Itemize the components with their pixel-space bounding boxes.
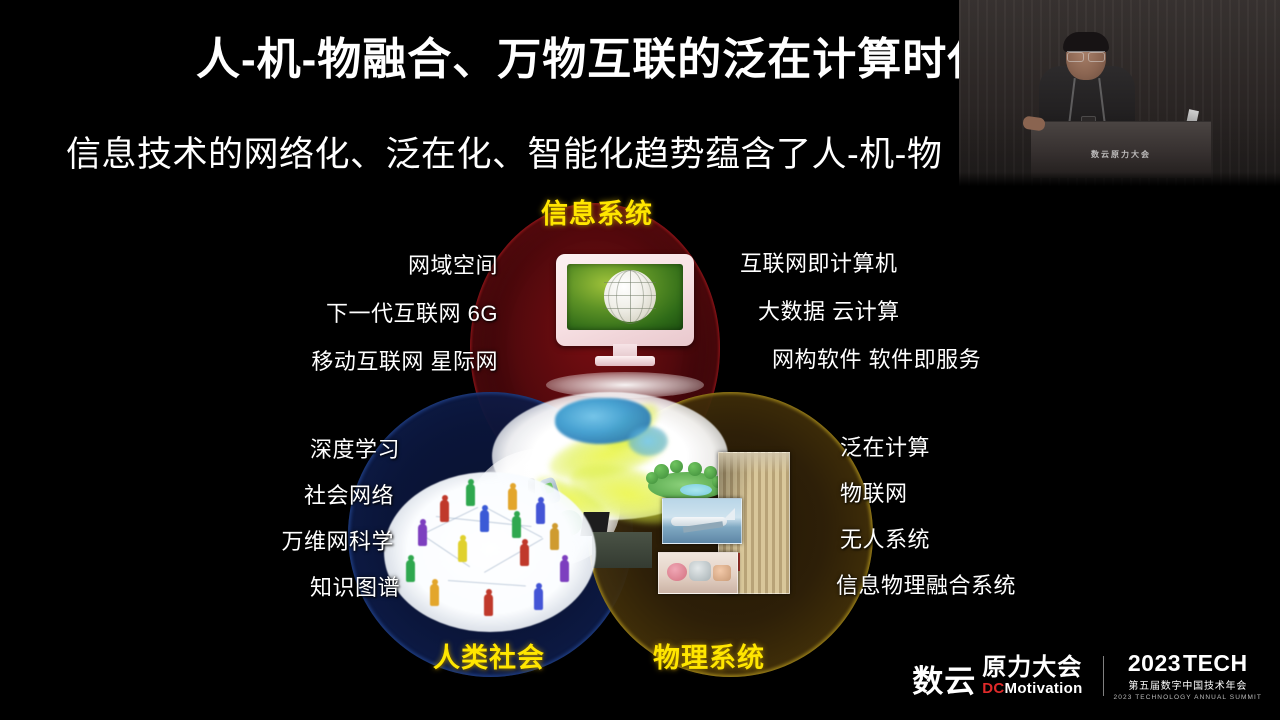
center-platform-icon xyxy=(592,532,652,568)
pip-bottom-fade xyxy=(959,172,1280,186)
keyword-physical-4: 信息物理融合系统 xyxy=(836,568,1016,600)
logo-brand-en-dc: DC xyxy=(982,680,1004,697)
person-figure xyxy=(550,528,559,550)
person-figure xyxy=(512,516,521,538)
speaker-hair xyxy=(1063,32,1109,52)
person-figure xyxy=(418,524,427,546)
green-island-icon xyxy=(644,458,728,502)
person-figure xyxy=(430,584,439,606)
logo-summit-en: 2023 TECHNOLOGY ANNUAL SUMMIT xyxy=(1114,694,1262,701)
logo-summit-cn: 第五届数字中国技术年会 xyxy=(1128,677,1247,692)
person-figure xyxy=(560,560,569,582)
venn-title-information-system: 信息系统 xyxy=(541,192,653,231)
person-figure xyxy=(520,544,529,566)
person-figure xyxy=(484,594,493,616)
keyword-info-left-1: 网域空间 xyxy=(268,248,498,280)
keyword-info-right-2: 大数据 云计算 xyxy=(758,294,900,326)
keyword-info-right-3: 网构软件 软件即服务 xyxy=(772,342,981,374)
people-network-icon xyxy=(384,472,596,632)
keyword-info-left-2: 下一代互联网 6G xyxy=(268,296,498,328)
keyword-physical-3: 无人系统 xyxy=(840,522,930,554)
monitor-globe-icon xyxy=(556,254,694,366)
venn-title-physical-system: 物理系统 xyxy=(653,636,765,675)
person-figure xyxy=(440,500,449,522)
logo-tech: TECH xyxy=(1183,652,1248,675)
keyword-info-left-3: 移动互联网 星际网 xyxy=(238,344,498,376)
person-figure xyxy=(534,588,543,610)
venn-title-human-society: 人类社会 xyxy=(433,636,545,675)
keyword-physical-1: 泛在计算 xyxy=(840,430,930,462)
glasses-icon xyxy=(1067,51,1105,61)
podium-label: 数云原力大会 xyxy=(1031,149,1211,160)
person-figure xyxy=(536,502,545,524)
person-figure xyxy=(466,484,475,506)
aircraft-photo-icon xyxy=(662,498,742,544)
logo-brand-cn-1: 数云 xyxy=(912,666,976,697)
logo-divider xyxy=(1103,656,1104,696)
logo-brand-en-motivation: Motivation xyxy=(1005,680,1083,697)
keyword-physical-2: 物联网 xyxy=(840,476,908,508)
person-figure xyxy=(480,510,489,532)
keyword-human-3: 万维网科学 xyxy=(158,524,394,556)
logo-year: 2023 xyxy=(1128,652,1181,675)
logo-brand-cn-2: 原力大会 xyxy=(982,655,1082,680)
keyword-human-4: 知识图谱 xyxy=(178,570,400,602)
conference-logo: 数云 原力大会 DCMotivation 2023TECH 第五届数字中国技术年… xyxy=(912,650,1262,702)
podium: 数云原力大会 xyxy=(1031,121,1211,178)
earth-patch-secondary-icon xyxy=(628,426,668,456)
person-figure xyxy=(406,560,415,582)
person-figure xyxy=(508,488,517,510)
keyword-human-1: 深度学习 xyxy=(178,432,400,464)
keyword-human-2: 社会网络 xyxy=(178,478,394,510)
slide-subtitle: 信息技术的网络化、泛在化、智能化趋势蕴含了人-机-物 xyxy=(66,126,1066,177)
person-figure xyxy=(458,540,467,562)
speaker-video-overlay[interactable]: 数云原力大会 xyxy=(959,0,1280,186)
machinery-photo-icon xyxy=(658,552,738,594)
venn-diagram: 信息系统 人类社会 物理系统 网域空间 下一代互联网 6G 移动互联网 星际网 … xyxy=(0,180,1280,720)
keyword-info-right-1: 互联网即计算机 xyxy=(740,246,898,278)
presentation-slide-screenshot: 人-机-物融合、万物互联的泛在计算时代 信息技术的网络化、泛在化、智能化趋势蕴含… xyxy=(0,0,1280,720)
